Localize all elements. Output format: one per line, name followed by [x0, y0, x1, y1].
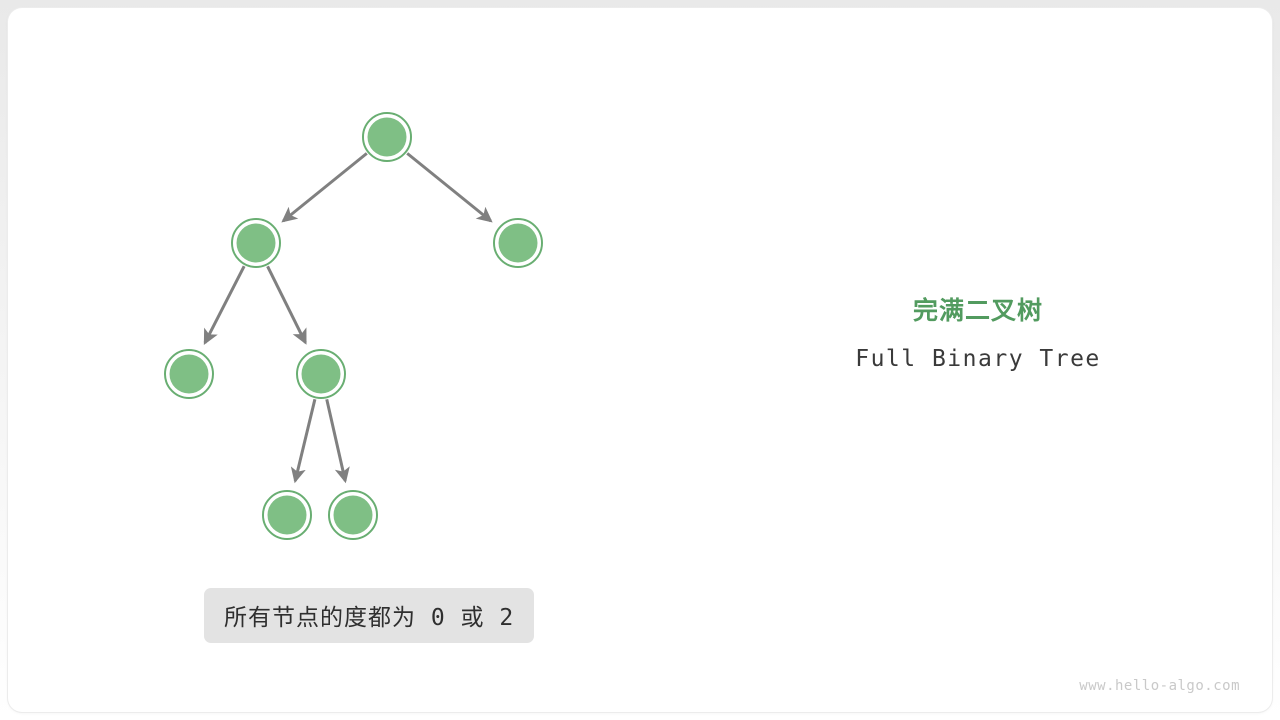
tree-node-ring — [232, 219, 280, 267]
tree-node-gap — [266, 494, 309, 537]
tree-node-ring — [165, 350, 213, 398]
tree-node-fill — [170, 355, 209, 394]
tree-edge — [327, 399, 345, 481]
tree-label-block: 完满二叉树 Full Binary Tree — [768, 296, 1188, 374]
tree-node-gap — [300, 353, 343, 396]
tree-edge-layer — [205, 153, 491, 481]
tree-node-ring — [494, 219, 542, 267]
page-subtitle: Full Binary Tree — [768, 346, 1188, 374]
tree-node[interactable] — [329, 491, 377, 539]
tree-edge — [295, 399, 315, 481]
tree-node-fill — [499, 224, 538, 263]
tree-node[interactable] — [232, 219, 280, 267]
screenshot-stage: 完满二叉树 Full Binary Tree 所有节点的度都为 0 或 2 ww… — [0, 0, 1280, 720]
tree-node[interactable] — [363, 113, 411, 161]
tree-node-gap — [332, 494, 375, 537]
site-watermark: www.hello-algo.com — [1079, 678, 1240, 694]
caption-badge: 所有节点的度都为 0 或 2 — [204, 588, 534, 643]
tree-node-fill — [334, 496, 373, 535]
tree-node-fill — [268, 496, 307, 535]
tree-node[interactable] — [263, 491, 311, 539]
tree-edge — [205, 266, 244, 343]
tree-node-ring — [329, 491, 377, 539]
tree-node-fill — [368, 118, 407, 157]
tree-node-gap — [497, 222, 540, 265]
tree-node-gap — [168, 353, 211, 396]
tree-edge — [268, 266, 306, 342]
tree-node-gap — [366, 116, 409, 159]
page-title: 完满二叉树 — [768, 296, 1188, 326]
tree-node[interactable] — [494, 219, 542, 267]
tree-node[interactable] — [165, 350, 213, 398]
tree-node-gap — [235, 222, 278, 265]
tree-node-ring — [297, 350, 345, 398]
diagram-card: 完满二叉树 Full Binary Tree 所有节点的度都为 0 或 2 ww… — [8, 8, 1272, 712]
tree-edge — [283, 153, 367, 221]
tree-node-layer — [165, 113, 542, 539]
tree-node-fill — [237, 224, 276, 263]
tree-node-ring — [263, 491, 311, 539]
tree-node-ring — [363, 113, 411, 161]
tree-edge — [407, 153, 491, 221]
tree-node-fill — [302, 355, 341, 394]
tree-node[interactable] — [297, 350, 345, 398]
